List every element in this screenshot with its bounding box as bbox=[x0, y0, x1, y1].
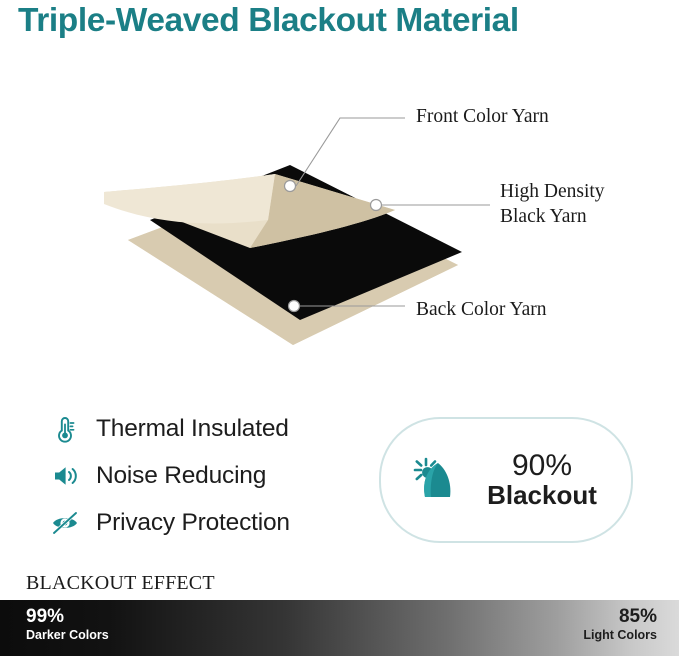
gradient-left-caption: Darker Colors bbox=[26, 628, 109, 642]
product-infographic: Triple-Weaved Blackout Material bbox=[0, 0, 679, 656]
blackout-badge: 90% Blackout bbox=[379, 417, 633, 543]
blackout-effect-heading: BLACKOUT EFFECT bbox=[26, 572, 215, 595]
gradient-left-stat: 99% Darker Colors bbox=[26, 606, 109, 642]
gradient-left-percent: 99% bbox=[26, 606, 109, 628]
sun-blocked-icon bbox=[407, 451, 465, 509]
feature-list: Thermal Insulated Noise Reducing bbox=[48, 405, 378, 546]
feature-label-noise: Noise Reducing bbox=[96, 462, 266, 490]
page-title: Triple-Weaved Blackout Material bbox=[18, 2, 668, 40]
badge-percent: 90% bbox=[512, 449, 572, 482]
speaker-sound-icon bbox=[48, 459, 82, 493]
badge-word: Blackout bbox=[487, 480, 597, 510]
blackout-effect-gradient-bar: 99% Darker Colors 85% Light Colors bbox=[0, 600, 679, 656]
feature-label-privacy: Privacy Protection bbox=[96, 509, 290, 537]
eye-off-icon bbox=[48, 506, 82, 540]
feature-item-privacy: Privacy Protection bbox=[48, 499, 378, 546]
front-color-yarn-layer-edge bbox=[104, 174, 275, 223]
gradient-right-caption: Light Colors bbox=[583, 628, 657, 642]
callout-label-back-color-yarn: Back Color Yarn bbox=[416, 298, 547, 323]
gradient-right-stat: 85% Light Colors bbox=[583, 606, 657, 642]
gradient-right-percent: 85% bbox=[583, 606, 657, 628]
feature-item-thermal: Thermal Insulated bbox=[48, 405, 378, 452]
thermometer-icon bbox=[48, 412, 82, 446]
feature-label-thermal: Thermal Insulated bbox=[96, 415, 289, 443]
fabric-layers-diagram: Front Color Yarn High Density Black Yarn… bbox=[0, 70, 679, 370]
callout-label-front-color-yarn: Front Color Yarn bbox=[416, 105, 549, 130]
feature-item-noise: Noise Reducing bbox=[48, 452, 378, 499]
callout-label-high-density-black-yarn: High Density Black Yarn bbox=[500, 180, 605, 230]
